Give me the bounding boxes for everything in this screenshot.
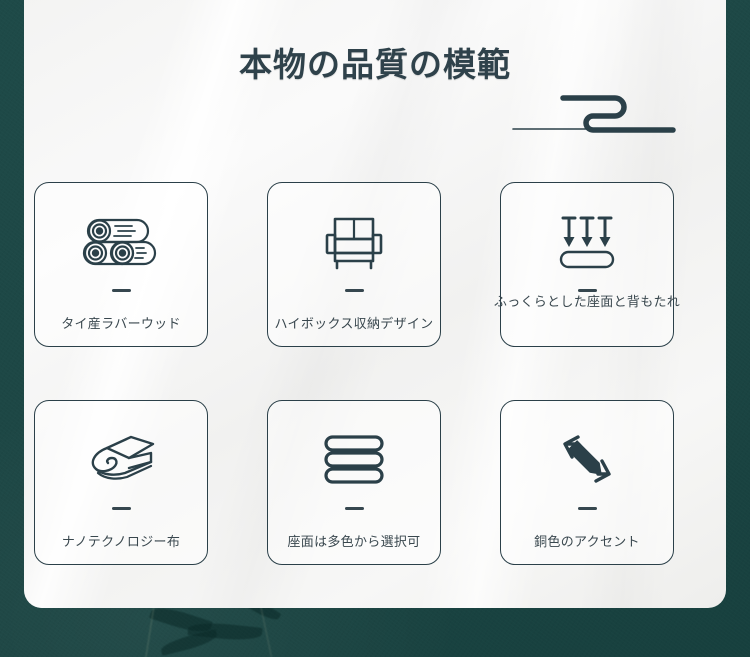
feature-label: ハイボックス収納デザイン bbox=[275, 313, 434, 332]
pencil-accent-icon bbox=[557, 429, 617, 491]
feature-grid: タイ産ラバーウッド ハイボックス収納デザイン bbox=[34, 182, 736, 565]
bamboo-leaf-decor bbox=[159, 629, 218, 656]
feature-card-plush-seat[interactable]: ふっくらとした座面と背もたれ bbox=[500, 182, 674, 347]
feature-card-storage-design[interactable]: ハイボックス収納デザイン bbox=[267, 182, 441, 347]
feature-label: 座面は多色から選択可 bbox=[287, 531, 420, 550]
feature-card-lumber[interactable]: タイ産ラバーウッド bbox=[34, 182, 208, 347]
card-divider bbox=[112, 507, 131, 510]
armchair-icon bbox=[323, 211, 385, 273]
feature-label: ふっくらとした座面と背もたれ bbox=[494, 291, 680, 310]
cushion-pressure-arrows-icon bbox=[553, 211, 621, 273]
card-divider bbox=[112, 289, 131, 292]
feature-card-copper-accent[interactable]: 銅色のアクセント bbox=[500, 400, 674, 565]
feature-label: タイ産ラバーウッド bbox=[61, 313, 181, 332]
card-divider bbox=[578, 507, 597, 510]
page-title: 本物の品質の模範 bbox=[0, 38, 750, 86]
feature-card-nano-fabric[interactable]: ナノテクノロジー布 bbox=[34, 400, 208, 565]
stacked-color-bars-icon bbox=[323, 429, 385, 491]
card-divider bbox=[345, 507, 364, 510]
wave-cloud-ornament bbox=[505, 88, 685, 136]
stacked-logs-icon bbox=[82, 211, 160, 273]
feature-label: ナノテクノロジー布 bbox=[62, 531, 180, 550]
bamboo-leaf-decor bbox=[187, 620, 262, 643]
folded-fabric-icon bbox=[85, 429, 157, 491]
feature-card-color-options[interactable]: 座面は多色から選択可 bbox=[267, 400, 441, 565]
card-divider bbox=[345, 289, 364, 292]
feature-label: 銅色のアクセント bbox=[534, 531, 640, 550]
